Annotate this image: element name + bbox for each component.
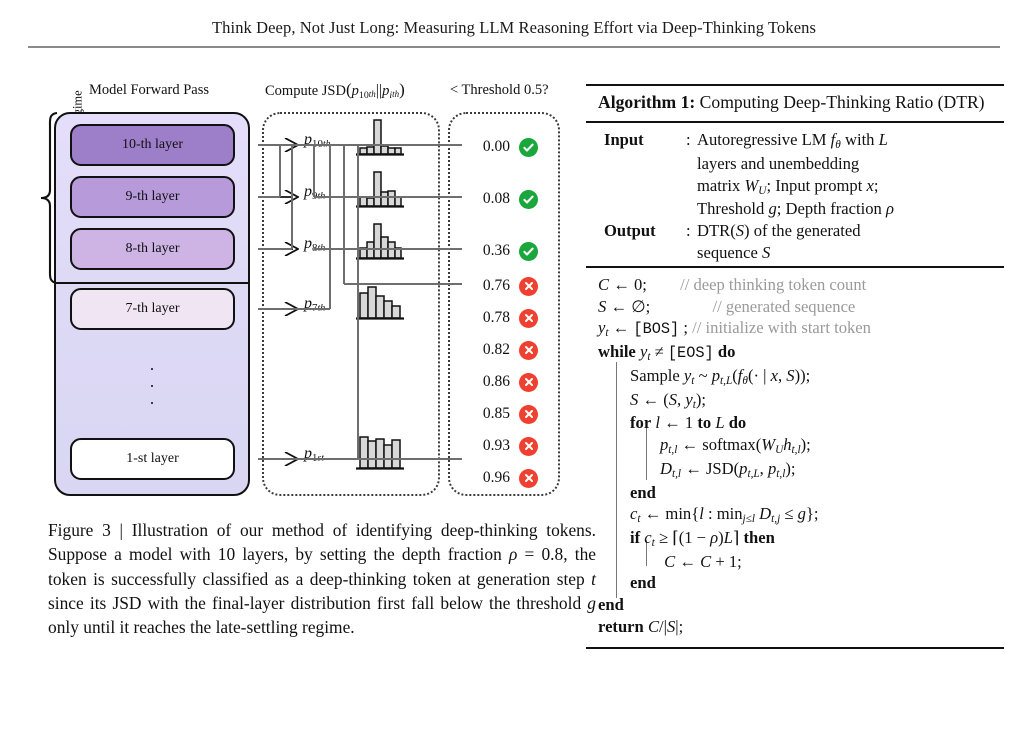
io-colon: : bbox=[686, 220, 697, 242]
algorithm-title: Algorithm 1: Computing Deep-Thinking Rat… bbox=[586, 86, 1004, 119]
code-line-softmax: pt,l ← softmax(WUht,l); bbox=[586, 434, 1004, 458]
score-value: 0.36 bbox=[470, 242, 510, 260]
input-line-1: Autoregressive LM fθ with L bbox=[697, 129, 1004, 153]
algorithm-body: Input : Autoregressive LM fθ with L laye… bbox=[586, 125, 1004, 643]
output-label: Output bbox=[604, 220, 686, 242]
score-value: 0.86 bbox=[470, 373, 510, 391]
score-value: 0.78 bbox=[470, 309, 510, 327]
score-value: 0.76 bbox=[470, 277, 510, 295]
page-content: Model Forward Pass Compute JSD(p10th||pi… bbox=[0, 56, 1028, 741]
algorithm-output-row: Output : DTR(S) of the generated bbox=[586, 220, 1004, 242]
input-line-3: matrix WU; Input prompt x; bbox=[586, 175, 1004, 199]
score-row-7: 0.86 bbox=[470, 371, 556, 393]
algorithm-number: Algorithm 1: bbox=[598, 92, 695, 112]
comment-start-token: // initialize with start token bbox=[692, 318, 871, 337]
score-row-9: 0.93 bbox=[470, 435, 556, 457]
score-row-2: 0.08 bbox=[470, 188, 556, 210]
algorithm-input-row: Input : Autoregressive LM fθ with L bbox=[586, 129, 1004, 153]
code-line-jsd: Dt,l ← JSD(pt,L, pt,l); bbox=[586, 458, 1004, 482]
code-line-while: while yt ≠ [EOS] do bbox=[586, 341, 1004, 365]
check-circle-icon bbox=[519, 242, 538, 261]
code-line-end-while: end bbox=[586, 594, 1004, 616]
score-row-8: 0.85 bbox=[470, 403, 556, 425]
cross-circle-icon bbox=[519, 437, 538, 456]
score-row-3: 0.36 bbox=[470, 240, 556, 262]
cross-circle-icon bbox=[519, 469, 538, 488]
ellipsis-dot: . bbox=[144, 356, 160, 373]
score-row-10: 0.96 bbox=[470, 467, 556, 489]
figure-column-headings: Model Forward Pass Compute JSD(p10th||pi… bbox=[24, 82, 580, 104]
heading-model-forward-pass: Model Forward Pass bbox=[89, 82, 209, 99]
input-label: Input bbox=[604, 129, 686, 153]
code-line-increment-c: C ← C + 1; bbox=[586, 551, 1004, 573]
score-row-6: 0.82 bbox=[470, 339, 556, 361]
algorithm-io-rule bbox=[586, 266, 1004, 270]
input-line-2: layers and unembedding bbox=[586, 153, 1004, 175]
cross-circle-icon bbox=[519, 341, 538, 360]
code-line-init-c: C ← 0; // deep thinking token count bbox=[586, 274, 1004, 296]
score-value: 0.96 bbox=[470, 469, 510, 487]
code-line-init-y: yt ← [BOS] ; // initialize with start to… bbox=[586, 317, 1004, 341]
score-value: 0.93 bbox=[470, 437, 510, 455]
score-value: 0.00 bbox=[470, 138, 510, 156]
code-line-ct: ct ← min{l : minj≤l Dt,j ≤ g}; bbox=[586, 503, 1004, 527]
code-line-init-s: S ← ∅; // generated sequence bbox=[586, 296, 1004, 318]
code-line-return: return C/|S|; bbox=[586, 616, 1004, 638]
code-line-sample: Sample yt ~ pt,L(fθ(· | x, S)); bbox=[586, 365, 1004, 389]
check-circle-icon bbox=[519, 190, 538, 209]
score-row-1: 0.00 bbox=[470, 136, 556, 158]
running-title: Think Deep, Not Just Long: Measuring LLM… bbox=[212, 18, 816, 37]
code-line-for: for l ← 1 to L do bbox=[586, 412, 1004, 434]
score-value: 0.08 bbox=[470, 190, 510, 208]
code-line-end-if: end bbox=[586, 572, 1004, 594]
output-line-2: sequence S bbox=[586, 242, 1004, 264]
jsd-score-connectors bbox=[162, 112, 502, 496]
cross-circle-icon bbox=[519, 277, 538, 296]
ellipsis-dot: . bbox=[144, 390, 160, 407]
code-line-append-s: S ← (S, yt); bbox=[586, 389, 1004, 413]
code-line-if: if ct ≥ ⌈(1 − ρ)L⌉ then bbox=[586, 527, 1004, 551]
cross-circle-icon bbox=[519, 405, 538, 424]
input-line-4: Threshold g; Depth fraction ρ bbox=[586, 198, 1004, 220]
algorithm-bottom-rule bbox=[586, 647, 1004, 651]
output-line-1: DTR(S) of the generated bbox=[697, 220, 1004, 242]
algorithm-block: Algorithm 1: Computing Deep-Thinking Rat… bbox=[586, 84, 1004, 651]
score-value: 0.85 bbox=[470, 405, 510, 423]
algorithm-title-text: Computing Deep-Thinking Ratio (DTR) bbox=[700, 92, 985, 112]
comment-generated-sequence: // generated sequence bbox=[712, 297, 855, 316]
heading-threshold: < Threshold 0.5? bbox=[450, 82, 549, 99]
io-colon: : bbox=[686, 129, 697, 153]
score-row-4: 0.76 bbox=[470, 275, 556, 297]
vertical-ellipsis-layers: . . . bbox=[144, 356, 160, 407]
header-divider-rule bbox=[28, 46, 1000, 48]
page-running-header: Think Deep, Not Just Long: Measuring LLM… bbox=[0, 0, 1028, 38]
check-circle-icon bbox=[519, 138, 538, 157]
comment-deep-thinking-count: // deep thinking token count bbox=[680, 275, 866, 294]
heading-compute-jsd: Compute JSD(p10th||pith) bbox=[265, 80, 405, 101]
cross-circle-icon bbox=[519, 309, 538, 328]
score-value: 0.82 bbox=[470, 341, 510, 359]
score-row-5: 0.78 bbox=[470, 307, 556, 329]
code-line-end-for: end bbox=[586, 482, 1004, 504]
figure-3: Model Forward Pass Compute JSD(p10th||pi… bbox=[24, 56, 580, 736]
cross-circle-icon bbox=[519, 373, 538, 392]
figure-caption: Figure 3 | Illustration of our method of… bbox=[48, 518, 596, 640]
ellipsis-dot: . bbox=[144, 373, 160, 390]
